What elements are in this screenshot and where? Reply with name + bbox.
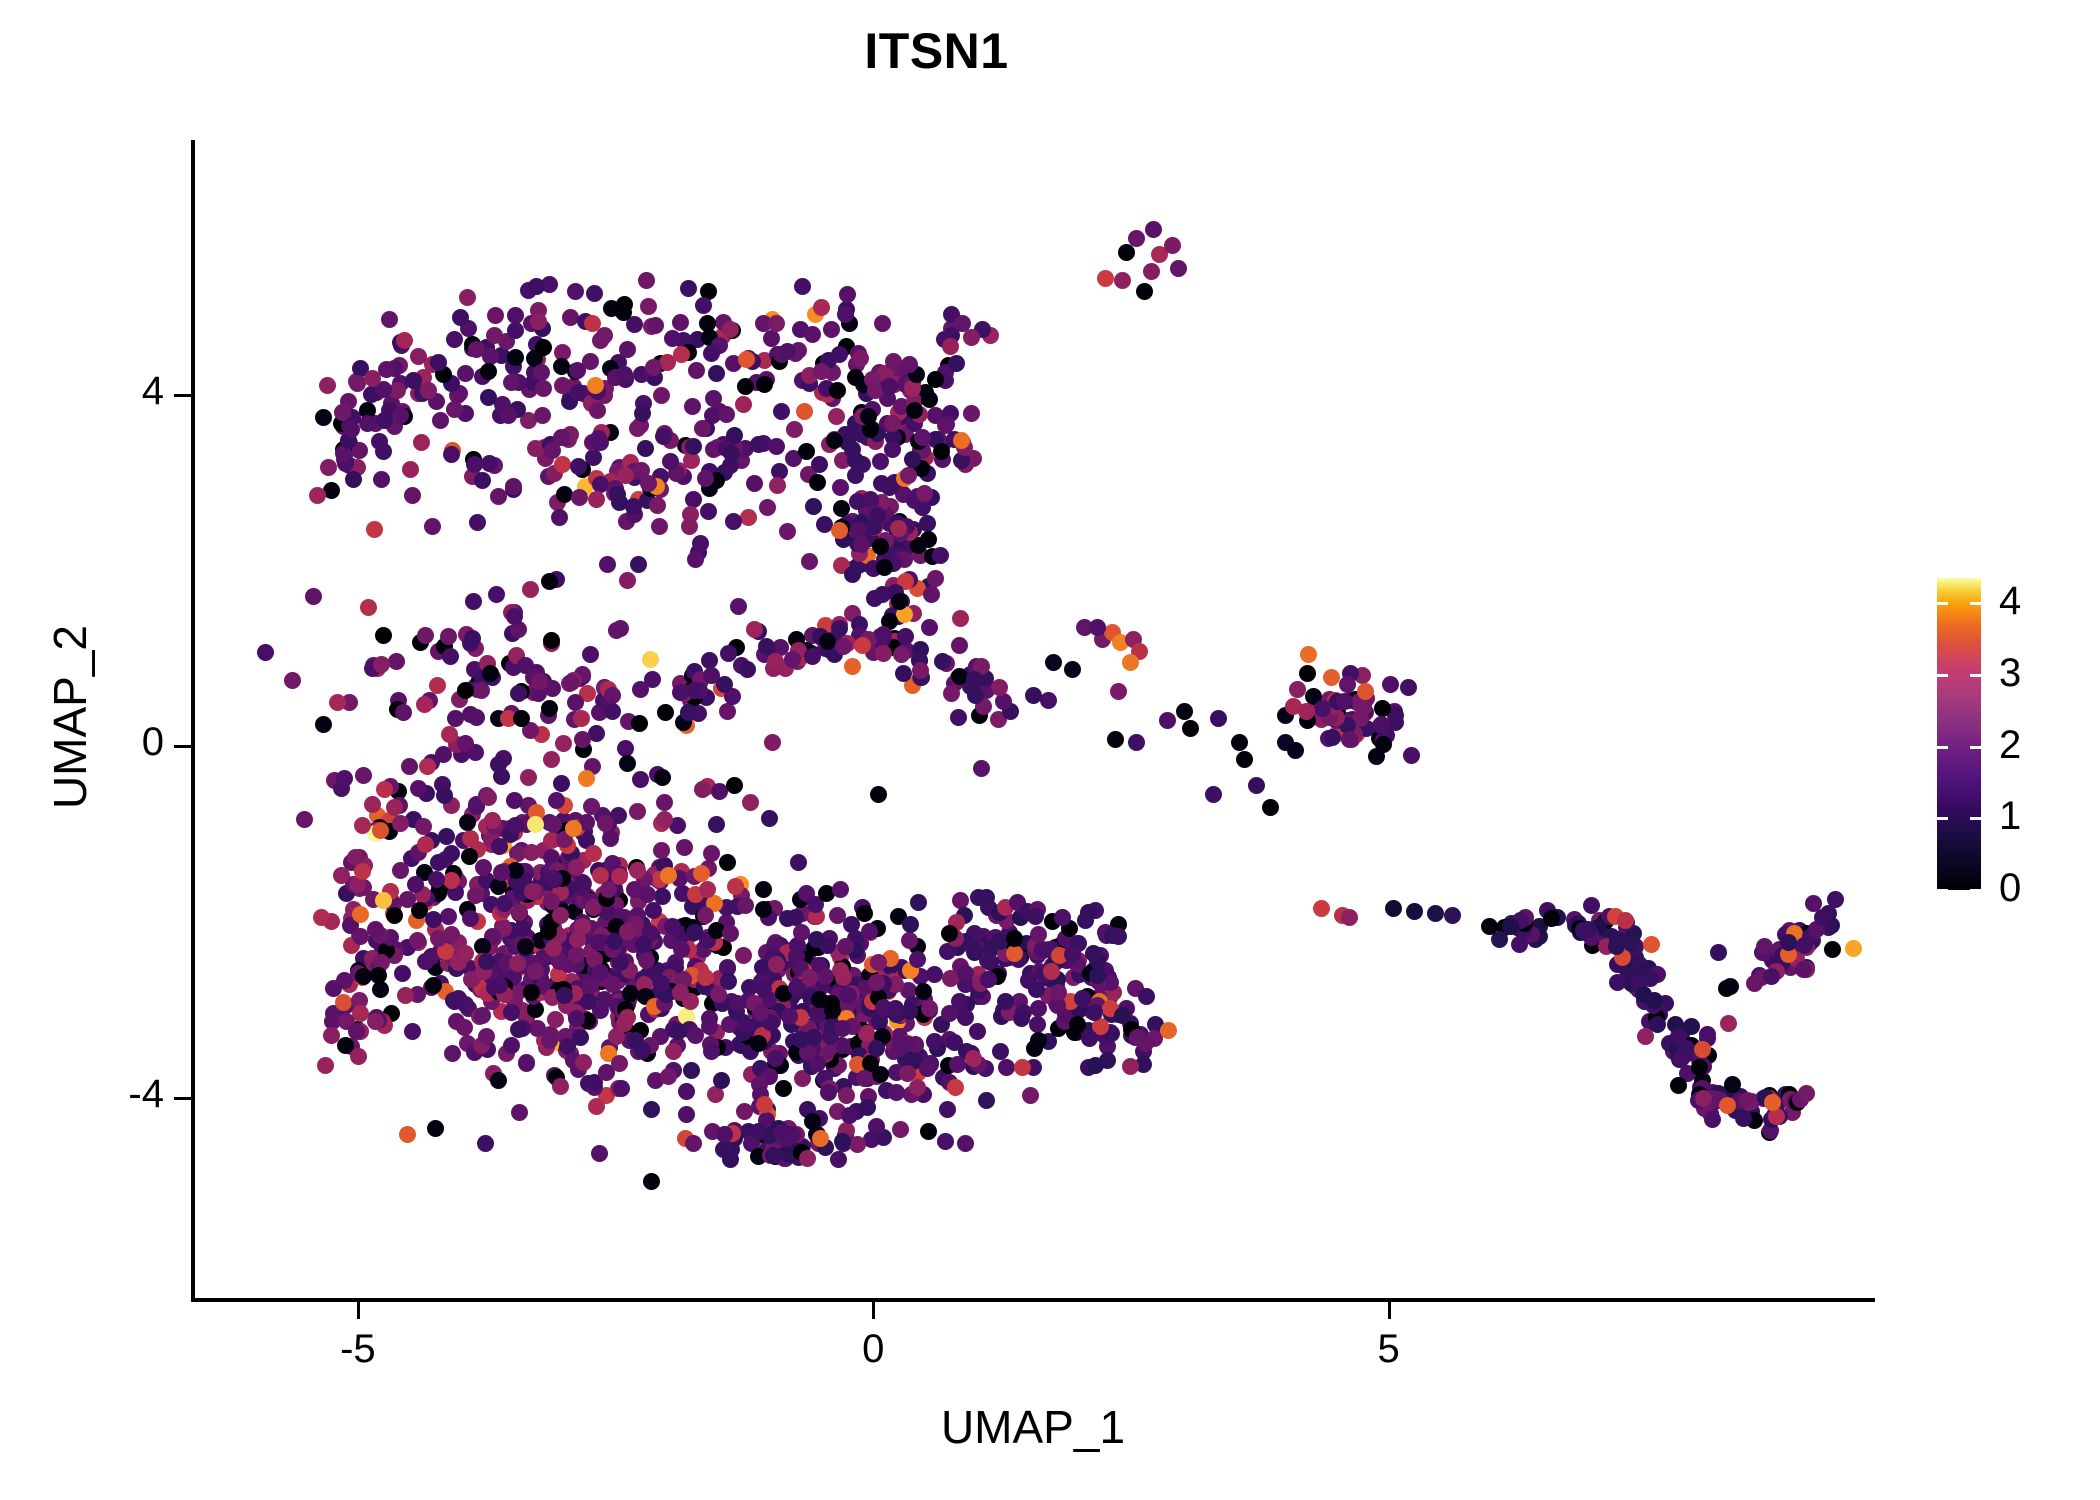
scatter-point: [1210, 710, 1227, 727]
scatter-point: [1718, 980, 1735, 997]
scatter-point: [602, 830, 619, 847]
scatter-point: [588, 1098, 605, 1115]
scatter-point: [657, 704, 674, 721]
scatter-point: [474, 1007, 491, 1024]
scatter-point: [355, 968, 372, 985]
scatter-point: [965, 1050, 982, 1067]
scatter-point: [672, 314, 689, 331]
scatter-point: [535, 339, 552, 356]
scatter-point: [839, 286, 856, 303]
scatter-point: [701, 652, 718, 669]
scatter-point: [761, 810, 778, 827]
scatter-point: [740, 509, 757, 526]
scatter-point: [708, 816, 725, 833]
scatter-point: [348, 1023, 365, 1040]
scatter-point: [366, 521, 383, 538]
scatter-point: [902, 916, 919, 933]
scatter-point: [613, 1080, 630, 1097]
scatter-point: [553, 775, 570, 792]
scatter-point: [1341, 909, 1358, 926]
scatter-point: [710, 986, 727, 1003]
scatter-point: [1097, 270, 1114, 287]
scatter-point: [333, 867, 350, 884]
scatter-point: [1444, 907, 1461, 924]
scatter-point: [854, 637, 871, 654]
scatter-point: [1006, 945, 1023, 962]
scatter-point: [352, 928, 369, 945]
scatter-point: [856, 1070, 873, 1087]
scatter-point: [1074, 990, 1091, 1007]
scatter-point: [513, 710, 530, 727]
scatter-point: [490, 488, 507, 505]
y-tick: [174, 745, 191, 748]
scatter-point: [435, 746, 452, 763]
scatter-point: [535, 380, 552, 397]
scatter-point: [404, 1023, 421, 1040]
scatter-point: [978, 1092, 995, 1109]
scatter-point: [1827, 891, 1844, 908]
scatter-point: [699, 315, 716, 332]
scatter-point: [1236, 751, 1253, 768]
scatter-point: [804, 326, 821, 343]
scatter-point: [1026, 1040, 1043, 1057]
scatter-point: [874, 315, 891, 332]
scatter-point: [430, 354, 447, 371]
scatter-point: [534, 407, 551, 424]
scatter-points-layer: [193, 140, 1873, 1300]
scatter-point: [1064, 661, 1081, 678]
scatter-point: [524, 883, 541, 900]
scatter-point: [370, 967, 387, 984]
scatter-point: [831, 522, 848, 539]
scatter-point: [841, 1107, 858, 1124]
scatter-point: [373, 656, 390, 673]
scatter-point: [847, 467, 864, 484]
scatter-point: [522, 581, 539, 598]
scatter-point: [852, 350, 869, 367]
scatter-point: [305, 588, 322, 605]
scatter-point: [563, 674, 580, 691]
y-tick: [174, 394, 191, 397]
scatter-point: [617, 740, 634, 757]
scatter-point: [643, 1173, 660, 1190]
scatter-point: [392, 815, 409, 832]
scatter-point: [868, 1040, 885, 1057]
scatter-point: [397, 987, 414, 1004]
scatter-point: [464, 630, 481, 647]
scatter-point: [746, 475, 763, 492]
scatter-point: [653, 387, 670, 404]
scatter-point: [527, 816, 544, 833]
scatter-point: [742, 794, 759, 811]
scatter-point: [683, 1062, 700, 1079]
scatter-point: [553, 358, 570, 375]
scatter-point: [399, 1126, 416, 1143]
scatter-point: [1502, 918, 1519, 935]
scatter-point: [809, 474, 826, 491]
scatter-point: [786, 421, 803, 438]
scatter-point: [1114, 1007, 1131, 1024]
scatter-point: [642, 651, 659, 668]
scatter-point: [939, 1101, 956, 1118]
scatter-point: [701, 1010, 718, 1027]
scatter-point: [441, 726, 458, 743]
scatter-point: [715, 1141, 732, 1158]
scatter-point: [507, 817, 524, 834]
scatter-point: [664, 918, 681, 935]
scatter-point: [523, 844, 540, 861]
scatter-point: [1080, 904, 1097, 921]
scatter-point: [887, 1000, 904, 1017]
scatter-point: [837, 938, 854, 955]
scatter-point: [921, 391, 938, 408]
scatter-point: [1400, 679, 1417, 696]
scatter-point: [735, 396, 752, 413]
scatter-point: [826, 432, 843, 449]
scatter-point: [817, 968, 834, 985]
scatter-point: [1824, 941, 1841, 958]
scatter-point: [722, 321, 739, 338]
scatter-point: [598, 1064, 615, 1081]
scatter-point: [440, 908, 457, 925]
scatter-point: [937, 1133, 954, 1150]
scatter-point: [758, 638, 775, 655]
scatter-point: [1670, 1077, 1687, 1094]
scatter-point: [1087, 1057, 1104, 1074]
scatter-point: [442, 648, 459, 665]
scatter-point: [533, 364, 550, 381]
colorbar-tick: [1970, 674, 1981, 677]
page-title: ITSN1: [0, 22, 1873, 80]
scatter-point: [832, 479, 849, 496]
y-axis-label: UMAP_2: [43, 337, 97, 1097]
scatter-point: [567, 694, 584, 711]
scatter-point: [627, 1032, 644, 1049]
scatter-point: [773, 403, 790, 420]
scatter-point: [567, 283, 584, 300]
scatter-point: [585, 449, 602, 466]
scatter-point: [678, 1106, 695, 1123]
scatter-point: [319, 377, 336, 394]
scatter-point: [888, 1084, 905, 1101]
scatter-point: [927, 570, 944, 587]
scatter-point: [703, 1043, 720, 1060]
scatter-point: [738, 351, 755, 368]
scatter-point: [1027, 908, 1044, 925]
scatter-point: [884, 415, 901, 432]
scatter-point: [619, 923, 636, 940]
colorbar-tick: [1937, 889, 1948, 892]
scatter-point: [870, 786, 887, 803]
scatter-point: [416, 696, 433, 713]
scatter-point: [767, 653, 784, 670]
scatter-point: [569, 931, 586, 948]
scatter-point: [392, 862, 409, 879]
scatter-point: [1756, 938, 1773, 955]
scatter-point: [941, 1005, 958, 1022]
scatter-point: [1299, 665, 1316, 682]
scatter-point: [1136, 283, 1153, 300]
scatter-point: [396, 332, 413, 349]
scatter-point: [779, 523, 796, 540]
scatter-point: [630, 556, 647, 573]
scatter-point: [965, 940, 982, 957]
scatter-point: [801, 553, 818, 570]
scatter-point: [991, 933, 1008, 950]
scatter-point: [459, 289, 476, 306]
scatter-point: [830, 1151, 847, 1168]
scatter-point: [649, 497, 666, 514]
scatter-point: [544, 870, 561, 887]
scatter-point: [488, 586, 505, 603]
feature-plot-figure: ITSN1 -505 40-4 UMAP_1 UMAP_2 43210: [0, 0, 2100, 1500]
scatter-point: [938, 416, 955, 433]
scatter-point: [1014, 1059, 1031, 1076]
scatter-point: [317, 1057, 334, 1074]
scatter-point: [309, 487, 326, 504]
scatter-point: [750, 1123, 767, 1140]
scatter-point: [1013, 1010, 1030, 1027]
scatter-point: [957, 1135, 974, 1152]
scatter-point: [948, 355, 965, 372]
scatter-point: [444, 1045, 461, 1062]
scatter-point: [910, 894, 927, 911]
colorbar-tick-label: 1: [1999, 796, 2021, 836]
scatter-point: [619, 341, 636, 358]
scatter-point: [796, 403, 813, 420]
scatter-point: [647, 317, 664, 334]
scatter-point: [1006, 930, 1023, 947]
scatter-point: [739, 661, 756, 678]
scatter-point: [1122, 654, 1139, 671]
scatter-point: [950, 709, 967, 726]
scatter-point: [1020, 972, 1037, 989]
scatter-point: [510, 685, 527, 702]
scatter-point: [615, 304, 632, 321]
scatter-point: [609, 486, 626, 503]
scatter-point: [656, 811, 673, 828]
scatter-point: [1710, 944, 1727, 961]
scatter-point: [779, 343, 796, 360]
color-legend: 43210: [1937, 578, 2087, 898]
colorbar-tick-label: 2: [1999, 725, 2021, 765]
scatter-point: [459, 814, 476, 831]
scatter-point: [640, 475, 657, 492]
scatter-point: [446, 331, 463, 348]
scatter-point: [531, 673, 548, 690]
scatter-point: [697, 969, 714, 986]
scatter-point: [506, 792, 523, 809]
scatter-point: [719, 703, 736, 720]
scatter-point: [811, 456, 828, 473]
scatter-point: [769, 477, 786, 494]
scatter-point: [916, 485, 933, 502]
scatter-point: [638, 272, 655, 289]
scatter-point: [571, 489, 588, 506]
scatter-point: [1637, 1028, 1654, 1045]
scatter-point: [552, 1078, 569, 1095]
scatter-point: [468, 709, 485, 726]
scatter-point: [517, 657, 534, 674]
scatter-point: [527, 440, 544, 457]
scatter-point: [478, 953, 495, 970]
scatter-point: [840, 987, 857, 1004]
scatter-point: [980, 971, 997, 988]
x-tick-label: -5: [298, 1327, 418, 1372]
scatter-point: [832, 881, 849, 898]
scatter-point: [901, 356, 918, 373]
scatter-point: [520, 769, 537, 786]
scatter-point: [1085, 945, 1102, 962]
scatter-point: [653, 842, 670, 859]
scatter-point: [849, 1136, 866, 1153]
scatter-point: [604, 703, 621, 720]
scatter-point: [352, 906, 369, 923]
scatter-point: [804, 648, 821, 665]
scatter-point: [823, 321, 840, 338]
scatter-point: [417, 627, 434, 644]
scatter-point: [565, 820, 582, 837]
scatter-point: [943, 685, 960, 702]
scatter-point: [1043, 963, 1060, 980]
scatter-point: [443, 446, 460, 463]
scatter-point: [554, 456, 571, 473]
scatter-point: [436, 787, 453, 804]
scatter-point: [543, 751, 560, 768]
scatter-point: [551, 509, 568, 526]
scatter-point: [336, 770, 353, 787]
scatter-point: [320, 459, 337, 476]
scatter-point: [413, 434, 430, 451]
scatter-point: [651, 518, 668, 535]
scatter-point: [1764, 1094, 1781, 1111]
scatter-point: [676, 839, 693, 856]
x-axis-label: UMAP_1: [193, 1400, 1873, 1454]
scatter-point: [1054, 909, 1071, 926]
scatter-point: [475, 859, 492, 876]
scatter-point: [645, 902, 662, 919]
scatter-point: [588, 491, 605, 508]
scatter-point: [694, 781, 711, 798]
scatter-point: [1543, 910, 1560, 927]
scatter-point: [746, 621, 763, 638]
scatter-point: [1164, 237, 1181, 254]
scatter-point: [1182, 720, 1199, 737]
scatter-point: [686, 924, 703, 941]
scatter-point: [1798, 1085, 1815, 1102]
scatter-point: [329, 694, 346, 711]
scatter-point: [730, 598, 747, 615]
scatter-point: [1720, 1015, 1737, 1032]
scatter-point: [552, 907, 569, 924]
scatter-point: [469, 514, 486, 531]
scatter-point: [587, 377, 604, 394]
scatter-point: [569, 362, 586, 379]
scatter-point: [656, 794, 673, 811]
scatter-point: [1110, 928, 1127, 945]
scatter-point: [837, 306, 854, 323]
scatter-point: [1248, 777, 1265, 794]
scatter-point: [1064, 946, 1081, 963]
scatter-point: [456, 1019, 473, 1036]
scatter-point: [957, 1009, 974, 1026]
scatter-point: [941, 925, 958, 942]
y-tick: [174, 1097, 191, 1100]
scatter-point: [697, 907, 714, 924]
scatter-point: [927, 371, 944, 388]
scatter-point: [942, 338, 959, 355]
scatter-point: [1138, 988, 1155, 1005]
scatter-point: [399, 891, 416, 908]
x-tick: [872, 1302, 875, 1319]
scatter-point: [926, 1033, 943, 1050]
scatter-point: [1122, 1058, 1139, 1075]
scatter-point: [853, 536, 870, 553]
scatter-point: [417, 836, 434, 853]
scatter-point: [875, 645, 892, 662]
scatter-point: [445, 992, 462, 1009]
scatter-point: [703, 845, 720, 862]
scatter-point: [949, 1056, 966, 1073]
scatter-point: [805, 498, 822, 515]
scatter-point: [829, 382, 846, 399]
scatter-point: [1128, 734, 1145, 751]
scatter-point: [360, 599, 377, 616]
scatter-point: [257, 644, 274, 661]
scatter-point: [673, 346, 690, 363]
scatter-point: [573, 710, 590, 727]
scatter-point: [503, 1037, 520, 1054]
scatter-point: [1300, 646, 1317, 663]
scatter-point: [725, 513, 742, 530]
scatter-point: [507, 349, 524, 366]
scatter-point: [1110, 683, 1127, 700]
scatter-point: [541, 573, 558, 590]
plot-panel: [193, 140, 1873, 1300]
scatter-point: [543, 632, 560, 649]
scatter-point: [775, 1080, 792, 1097]
scatter-point: [599, 556, 616, 573]
scatter-point: [427, 1120, 444, 1137]
scatter-point: [1763, 968, 1780, 985]
scatter-point: [503, 1004, 520, 1021]
scatter-point: [631, 715, 648, 732]
scatter-point: [1129, 1029, 1146, 1046]
scatter-point: [763, 330, 780, 347]
scatter-point: [575, 1054, 592, 1071]
scatter-point: [1205, 786, 1222, 803]
scatter-point: [315, 409, 332, 426]
scatter-point: [296, 811, 313, 828]
scatter-point: [480, 789, 497, 806]
scatter-point: [973, 760, 990, 777]
scatter-point: [619, 572, 636, 589]
scatter-point: [700, 503, 717, 520]
scatter-point: [386, 799, 403, 816]
scatter-point: [632, 771, 649, 788]
scatter-point: [612, 620, 629, 637]
scatter-point: [808, 931, 825, 948]
scatter-point: [1739, 1092, 1756, 1109]
scatter-point: [755, 881, 772, 898]
scatter-point: [1382, 676, 1399, 693]
scatter-point: [473, 682, 490, 699]
x-tick-label: 0: [813, 1327, 933, 1372]
scatter-point: [480, 363, 497, 380]
scatter-point: [500, 407, 517, 424]
scatter-point: [926, 966, 943, 983]
scatter-point: [835, 638, 852, 655]
